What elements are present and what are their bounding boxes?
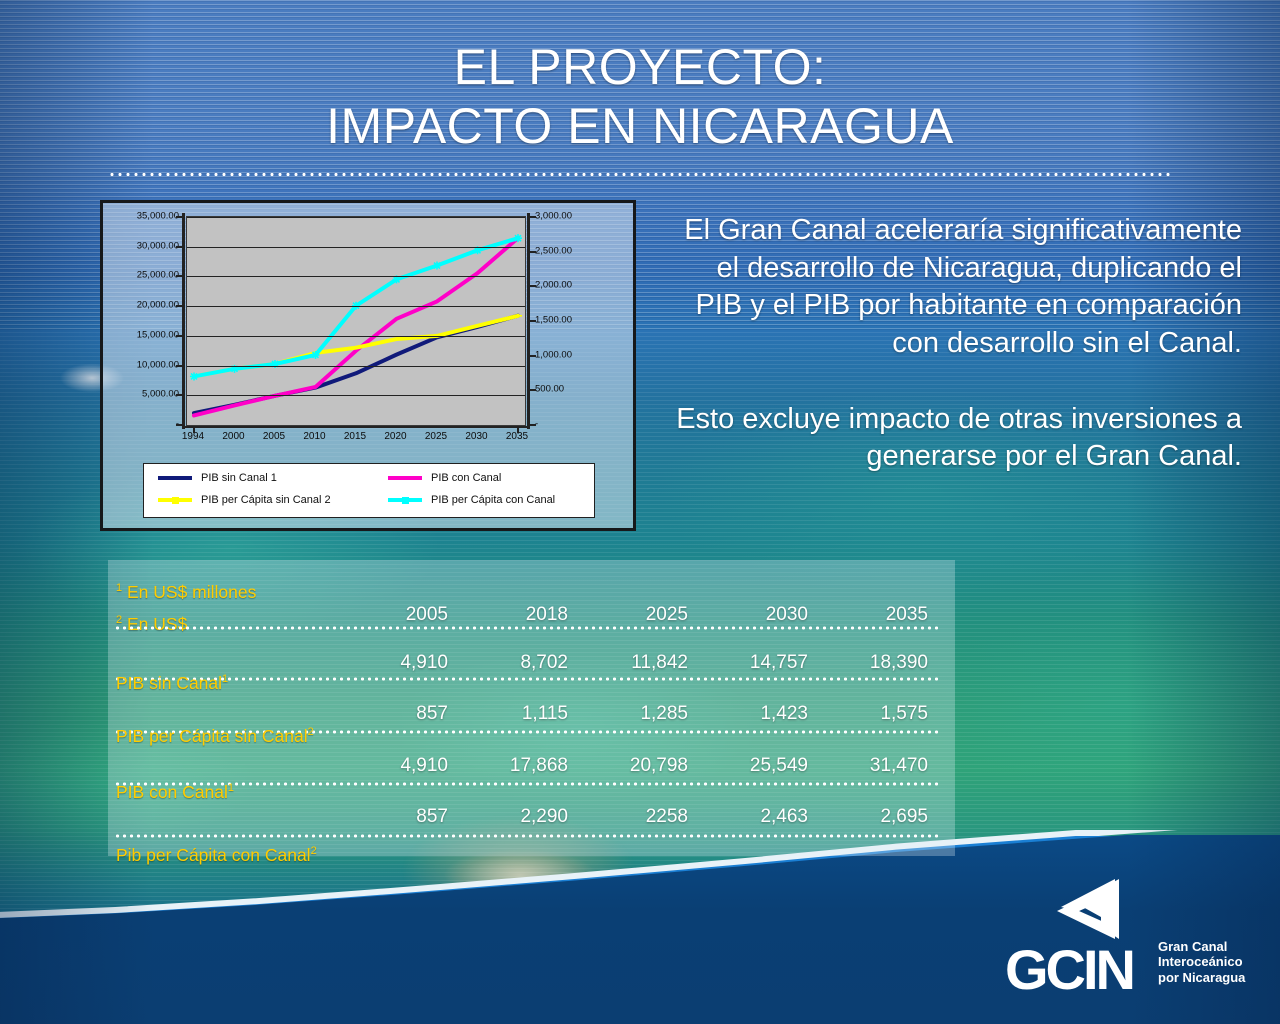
chart-legend-swatch xyxy=(158,498,192,502)
chart-plot-area xyxy=(186,216,526,426)
gcin-tagline-line-1: Gran Canal xyxy=(1158,939,1245,954)
gcin-tagline-line-2: Interoceánico xyxy=(1158,954,1245,969)
table-cell: 11,842 xyxy=(578,652,688,674)
chart-y-tick-label-right: 2,000.00 xyxy=(535,280,609,291)
chart-legend: PIB sin Canal 1PIB con CanalPIB per Cápi… xyxy=(143,463,595,518)
gdp-line-chart: -5,000.0010,000.0015,000.0020,000.0025,0… xyxy=(100,200,636,531)
table-column-header: 2025 xyxy=(578,604,688,626)
chart-legend-marker-icon xyxy=(172,497,179,504)
chart-y-tick-label-right: 3,000.00 xyxy=(535,211,609,222)
chart-legend-swatch xyxy=(158,476,192,480)
chart-y-tick-label-left: 5,000.00 xyxy=(105,389,179,400)
table-footnote: 2 En US$ xyxy=(116,614,187,635)
chart-axis-line-right xyxy=(527,213,530,429)
chart-legend-marker-icon xyxy=(402,497,409,504)
chart-legend-item: PIB sin Canal 1 xyxy=(158,472,277,484)
chart-gridline xyxy=(187,276,525,277)
chart-y-tick-right xyxy=(529,424,536,426)
chart-y-tick-label-right: 1,500.00 xyxy=(535,315,609,326)
table-column-header: 2018 xyxy=(458,604,568,626)
chart-y-tick-left xyxy=(176,394,183,396)
chart-gridline xyxy=(187,336,525,337)
table-cell: 20,798 xyxy=(578,755,688,777)
chart-y-tick-right xyxy=(529,389,536,391)
table-cell: 2,463 xyxy=(698,806,808,828)
chart-legend-swatch xyxy=(388,476,422,480)
chart-series-marker xyxy=(514,234,522,242)
table-cell: 1,575 xyxy=(818,703,928,725)
chart-y-tick-label-left: 30,000.00 xyxy=(105,240,179,251)
chart-axis-line-bottom xyxy=(183,426,530,428)
gcin-wordmark: GCIN xyxy=(1005,937,1133,1002)
chart-y-tick-right xyxy=(529,285,536,287)
chart-y-tick-label-right: 1,000.00 xyxy=(535,349,609,360)
chart-x-tick-label: 2025 xyxy=(425,431,447,442)
chart-y-tick-left xyxy=(176,365,183,367)
table-cell: 4,910 xyxy=(338,652,448,674)
gcin-logo: GCIN Gran Canal Interoceánico por Nicara… xyxy=(1005,885,1255,995)
table-cell: 857 xyxy=(338,703,448,725)
chart-series-marker xyxy=(190,372,198,380)
chart-gridline xyxy=(187,366,525,367)
chart-y-tick-right xyxy=(529,251,536,253)
table-cell: 2258 xyxy=(578,806,688,828)
chart-y-tick-right xyxy=(529,216,536,218)
table-cell: 1,115 xyxy=(458,703,568,725)
chart-y-tick-right xyxy=(529,320,536,322)
chart-x-tick xyxy=(193,426,195,433)
page-title: EL PROYECTO: IMPACTO EN NICARAGUA xyxy=(0,38,1280,156)
chart-y-tick-left xyxy=(176,305,183,307)
chart-series-marker xyxy=(312,351,320,359)
chart-x-tick-label: 2030 xyxy=(465,431,487,442)
chart-legend-label: PIB per Cápita con Canal xyxy=(431,494,555,506)
chart-legend-label: PIB per Cápita sin Canal 2 xyxy=(201,494,331,506)
chart-legend-label: PIB sin Canal 1 xyxy=(201,472,277,484)
gcin-tagline-line-3: por Nicaragua xyxy=(1158,970,1245,985)
table-row-divider xyxy=(114,782,942,786)
chart-gridline xyxy=(187,217,525,218)
chart-legend-item: PIB per Cápita con Canal xyxy=(388,494,555,506)
chart-x-tick xyxy=(517,426,519,433)
chart-y-tick-label-left: 25,000.00 xyxy=(105,270,179,281)
chart-y-tick-label-right: 2,500.00 xyxy=(535,245,609,256)
table-column-header: 2030 xyxy=(698,604,808,626)
chart-series-marker xyxy=(271,360,279,368)
table-cell: 17,868 xyxy=(458,755,568,777)
chart-y-tick-left xyxy=(176,275,183,277)
table-cell: 14,757 xyxy=(698,652,808,674)
chart-series-marker xyxy=(433,262,441,270)
table-cell: 31,470 xyxy=(818,755,928,777)
table-row-label: PIB con Canal1 xyxy=(116,782,234,803)
table-cell: 25,549 xyxy=(698,755,808,777)
table-cell: 1,285 xyxy=(578,703,688,725)
chart-x-tick-label: 2005 xyxy=(263,431,285,442)
side-commentary: El Gran Canal aceleraría significativame… xyxy=(672,212,1242,476)
chart-y-tick-left xyxy=(176,216,183,218)
chart-legend-item: PIB con Canal xyxy=(388,472,501,484)
chart-legend-item: PIB per Cápita sin Canal 2 xyxy=(158,494,331,506)
projection-table-grid: 1 En US$ millones2 En US$200520182025203… xyxy=(108,560,955,856)
table-cell: 857 xyxy=(338,806,448,828)
table-column-header: 2005 xyxy=(338,604,448,626)
table-row-divider xyxy=(114,834,942,838)
title-divider xyxy=(108,172,1172,177)
chart-y-axis-right: -500.001,000.001,500.002,000.002,500.003… xyxy=(535,203,615,443)
table-row-label: PIB per Cápita sin Canal2 xyxy=(116,726,314,747)
side-paragraph-1: El Gran Canal aceleraría significativame… xyxy=(672,212,1242,363)
side-paragraph-2: Esto excluye impacto de otras inversione… xyxy=(672,401,1242,476)
chart-y-tick-left xyxy=(176,424,183,426)
table-row-label: PIB sin Canal1 xyxy=(116,673,228,694)
chart-y-tick-label-left: 15,000.00 xyxy=(105,329,179,340)
chart-x-tick-label: 2020 xyxy=(384,431,406,442)
chart-series-line xyxy=(194,316,518,413)
chart-axis-line-left xyxy=(182,213,185,429)
page-title-line-1: EL PROYECTO: xyxy=(0,38,1280,97)
chart-y-tick-label-left: 10,000.00 xyxy=(105,359,179,370)
chart-y-tick-label-left: - xyxy=(105,419,179,430)
chart-y-tick-label-left: 20,000.00 xyxy=(105,300,179,311)
table-row-divider xyxy=(114,677,942,681)
chart-x-tick-label: 2000 xyxy=(222,431,244,442)
gcin-tagline: Gran Canal Interoceánico por Nicaragua xyxy=(1158,939,1245,985)
chart-legend-swatch xyxy=(388,498,422,502)
projection-table: 1 En US$ millones2 En US$200520182025203… xyxy=(108,560,955,856)
table-cell: 2,695 xyxy=(818,806,928,828)
page-title-line-2: IMPACTO EN NICARAGUA xyxy=(0,97,1280,156)
table-cell: 1,423 xyxy=(698,703,808,725)
table-cell: 4,910 xyxy=(338,755,448,777)
table-cell: 8,702 xyxy=(458,652,568,674)
table-row-divider xyxy=(114,626,942,630)
chart-series-layer xyxy=(187,217,525,425)
chart-x-tick-labels: 199420002005201020152020202520302035 xyxy=(186,431,526,447)
chart-y-tick-left xyxy=(176,246,183,248)
chart-y-tick-right xyxy=(529,355,536,357)
chart-gridline xyxy=(187,395,525,396)
chart-y-axis-left: -5,000.0010,000.0015,000.0020,000.0025,0… xyxy=(103,203,179,443)
slide-root: EL PROYECTO: IMPACTO EN NICARAGUA -5,000… xyxy=(0,0,1280,1024)
chart-y-tick-label-left: 35,000.00 xyxy=(105,211,179,222)
chart-legend-label: PIB con Canal xyxy=(431,472,501,484)
chart-y-tick-label-right: 500.00 xyxy=(535,384,609,395)
chart-gridline xyxy=(187,247,525,248)
table-cell: 18,390 xyxy=(818,652,928,674)
table-row-label: Pib per Cápita con Canal2 xyxy=(116,845,317,866)
table-column-header: 2035 xyxy=(818,604,928,626)
chart-y-tick-left xyxy=(176,335,183,337)
chart-gridline xyxy=(187,306,525,307)
table-footnote: 1 En US$ millones xyxy=(116,582,256,603)
table-cell: 2,290 xyxy=(458,806,568,828)
chart-x-tick-label: 2010 xyxy=(303,431,325,442)
chart-x-tick-label: 2015 xyxy=(344,431,366,442)
chart-y-tick-label-right: - xyxy=(535,419,609,430)
